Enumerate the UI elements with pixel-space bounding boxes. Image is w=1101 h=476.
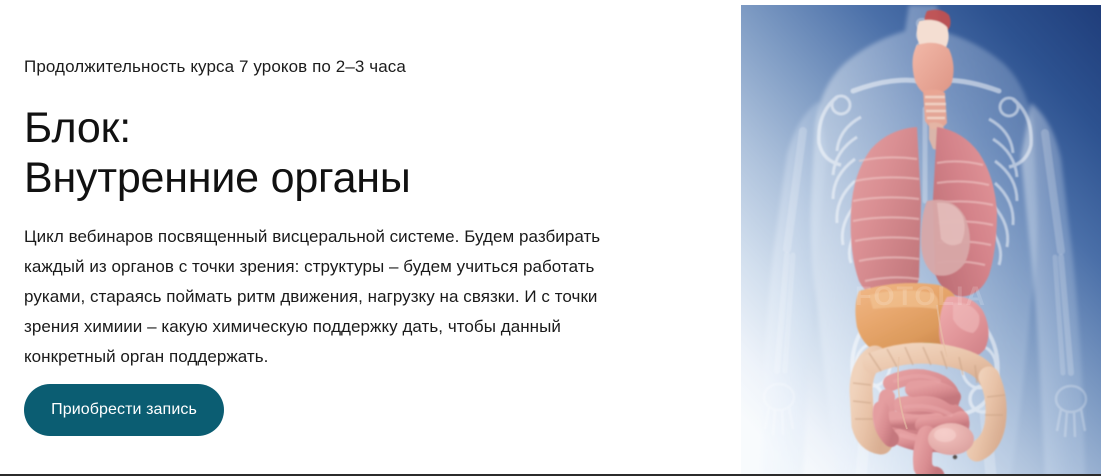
page-title-line-1: Блок: <box>24 103 411 153</box>
anatomy-illustration-svg <box>741 5 1101 476</box>
liver-highlight <box>869 290 938 309</box>
course-description: Цикл вебинаров посвященный висцеральной … <box>24 222 664 372</box>
description-line-3: руками, стараясь поймать ритм движения, … <box>24 282 664 312</box>
description-line-4: зрения химиии – какую химическую поддерж… <box>24 312 664 342</box>
bladder-highlight <box>934 428 956 442</box>
anatomy-illustration: FOTOLIA <box>741 5 1101 476</box>
description-line-2: каждый из органов с точки зрения: структ… <box>24 252 664 282</box>
page-title-line-2: Внутренние органы <box>24 153 411 203</box>
page-title: Блок: Внутренние органы <box>24 103 411 203</box>
thyroid-gland <box>913 43 954 96</box>
promo-page: Продолжительность курса 7 уроков по 2–3 … <box>0 0 1101 476</box>
text-column: Продолжительность курса 7 уроков по 2–3 … <box>24 0 684 476</box>
description-line-1: Цикл вебинаров посвященный висцеральной … <box>24 222 664 252</box>
purchase-recording-button[interactable]: Приобрести запись <box>24 384 224 436</box>
description-line-5: конкретный орган поддержать. <box>24 342 664 372</box>
course-duration-text: Продолжительность курса 7 уроков по 2–3 … <box>24 56 406 78</box>
anatomy-marker-dot <box>953 455 957 459</box>
